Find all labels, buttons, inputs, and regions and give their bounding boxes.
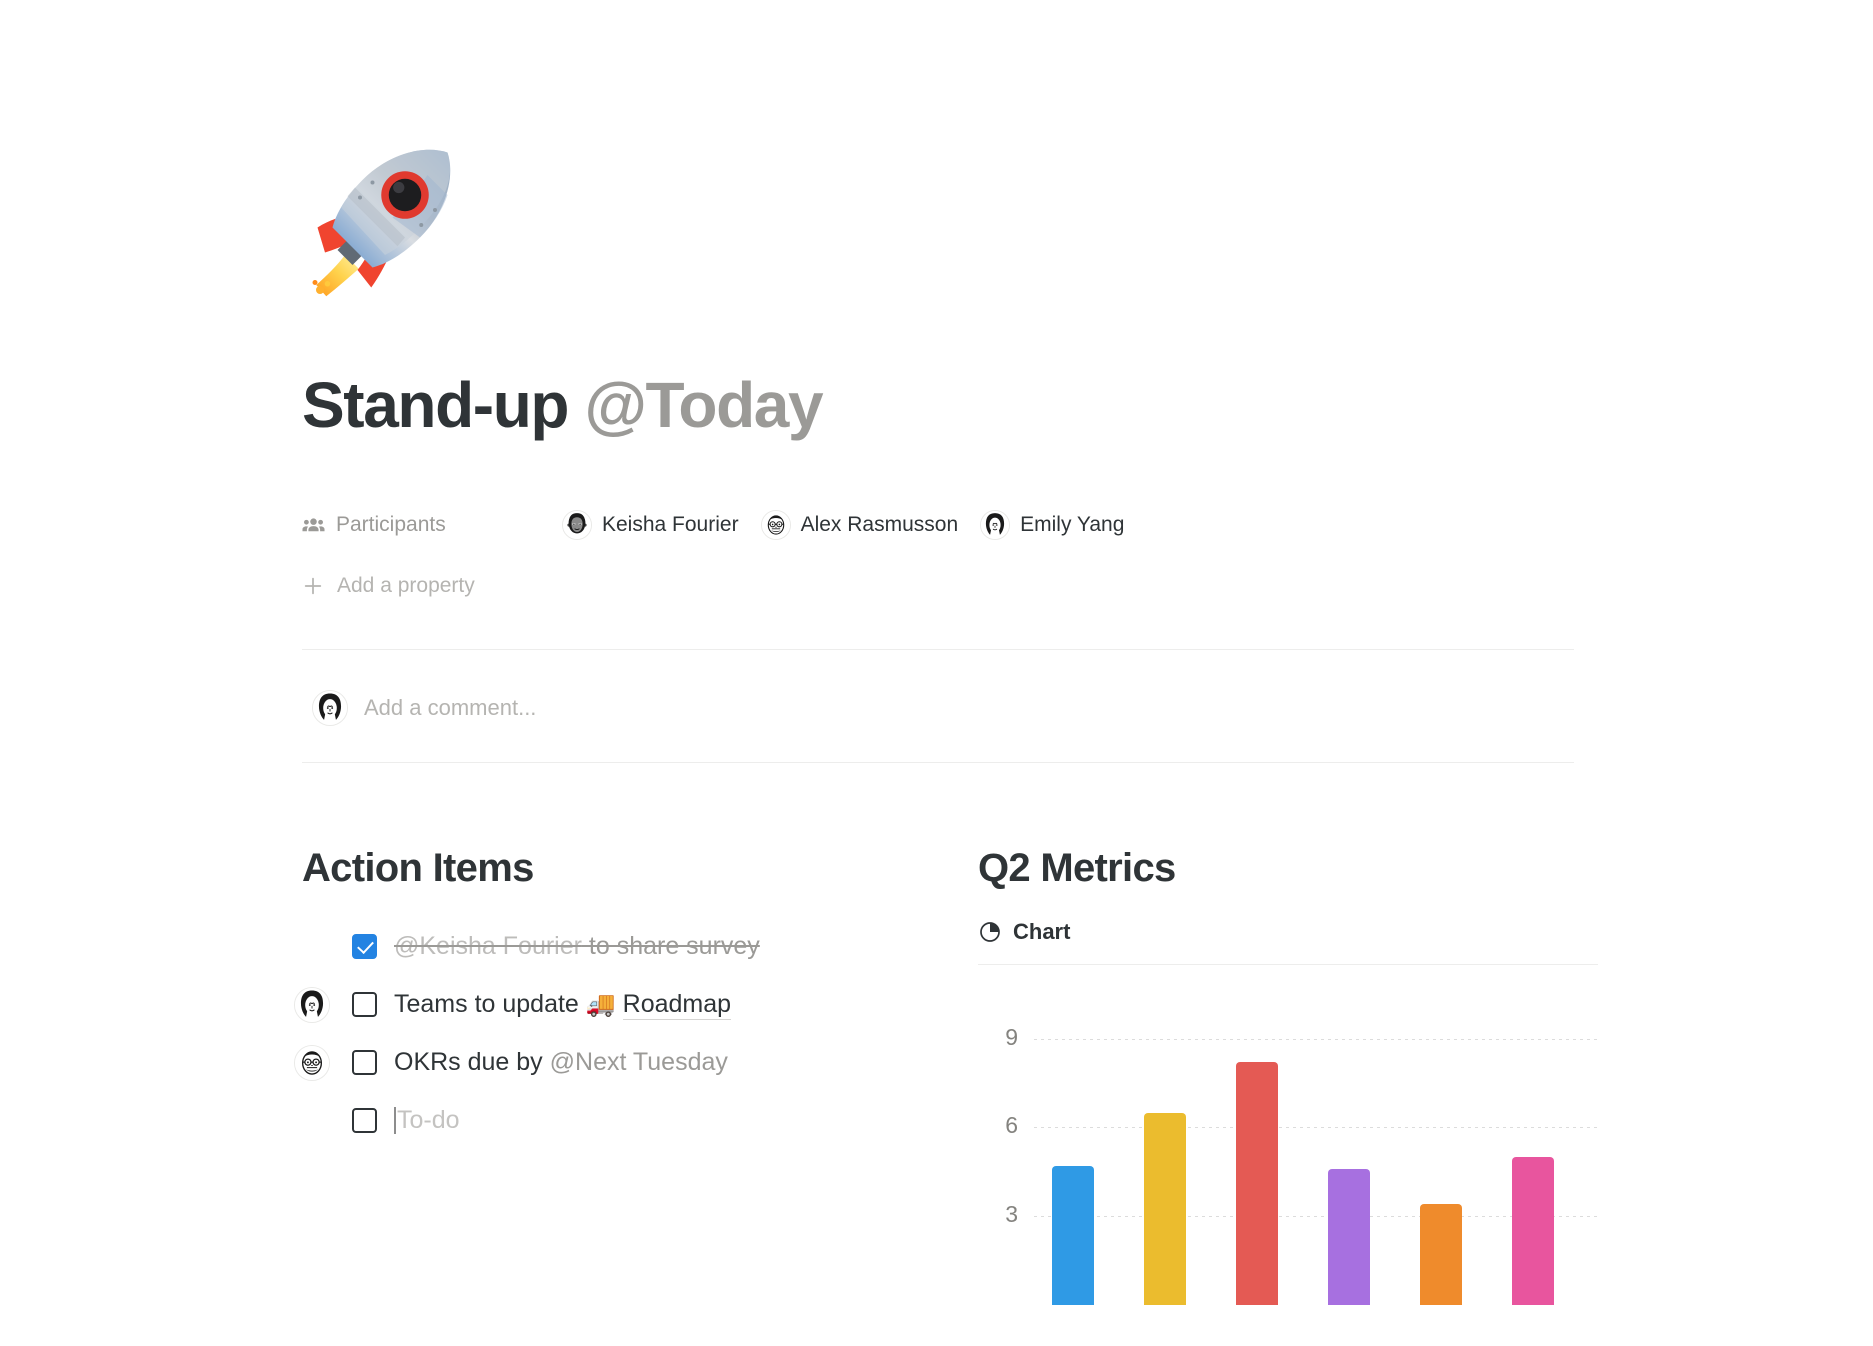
- todo-text-body: OKRs due by: [394, 1048, 550, 1076]
- chart-y-tick: 9: [978, 1024, 1018, 1051]
- comment-input[interactable]: Add a comment...: [364, 695, 536, 721]
- participant-name: Emily Yang: [1020, 513, 1124, 537]
- action-items-heading[interactable]: Action Items: [302, 845, 902, 891]
- todo-item-new[interactable]: To-do: [302, 1091, 902, 1149]
- todo-item[interactable]: @Keisha Fourier to share survey: [302, 917, 902, 975]
- todo-label[interactable]: @Keisha Fourier to share survey: [394, 932, 760, 961]
- truck-emoji: 🚚: [586, 991, 616, 1018]
- todo-page-link[interactable]: Roadmap: [623, 990, 731, 1020]
- todo-date-mention[interactable]: @Next Tuesday: [550, 1048, 728, 1076]
- rocket-emoji[interactable]: [300, 140, 460, 300]
- todo-label[interactable]: OKRs due by @Next Tuesday: [394, 1048, 728, 1077]
- add-property-button[interactable]: Add a property: [302, 574, 475, 598]
- chart-bar[interactable]: [1420, 1204, 1462, 1305]
- plus-icon: [302, 575, 324, 597]
- property-label-text: Participants: [336, 513, 446, 537]
- participant-chip[interactable]: Keisha Fourier: [562, 510, 739, 540]
- todo-checkbox[interactable]: [352, 992, 377, 1017]
- todo-checkbox[interactable]: [352, 1108, 377, 1133]
- todo-text-body: Teams to update: [394, 990, 586, 1018]
- people-icon: [302, 514, 325, 537]
- tab-chart-label: Chart: [1013, 919, 1070, 945]
- participant-name: Alex Rasmusson: [801, 513, 959, 537]
- metrics-section: Q2 Metrics Chart 369: [978, 845, 1598, 1305]
- todo-new-input[interactable]: To-do: [394, 1106, 460, 1135]
- avatar-alex: [761, 510, 791, 540]
- chart-bar[interactable]: [1328, 1169, 1370, 1305]
- participant-chip[interactable]: Emily Yang: [980, 510, 1124, 540]
- divider-above-comment: [302, 649, 1574, 650]
- note-page: Stand-up @Today Participants: [0, 0, 1873, 1346]
- todo-item[interactable]: OKRs due by @Next Tuesday: [302, 1033, 902, 1091]
- pie-chart-icon: [978, 920, 1002, 944]
- todo-checkbox[interactable]: [352, 934, 377, 959]
- todo-checkbox[interactable]: [352, 1050, 377, 1075]
- metrics-heading[interactable]: Q2 Metrics: [978, 845, 1598, 891]
- page-title[interactable]: Stand-up @Today: [302, 372, 822, 439]
- add-property-label: Add a property: [337, 574, 475, 598]
- participant-chip[interactable]: Alex Rasmusson: [761, 510, 959, 540]
- avatar-emily: [312, 690, 348, 726]
- participants-value[interactable]: Keisha Fourier: [562, 510, 1124, 540]
- text-caret: [394, 1107, 396, 1134]
- bar-chart[interactable]: 369: [978, 1009, 1598, 1305]
- chart-bar[interactable]: [1512, 1157, 1554, 1305]
- property-row-participants: Participants: [302, 508, 1124, 542]
- avatar-keisha: [562, 510, 592, 540]
- divider-below-comment: [302, 762, 1574, 763]
- avatar-alex: [294, 1045, 330, 1081]
- chart-bar[interactable]: [1144, 1113, 1186, 1305]
- action-items-section: Action Items @Keisha Fourier to share su…: [302, 845, 902, 1149]
- chart-divider: [978, 964, 1598, 965]
- participant-name: Keisha Fourier: [602, 513, 739, 537]
- avatar-emily: [294, 987, 330, 1023]
- chart-bar[interactable]: [1236, 1062, 1278, 1305]
- chart-y-tick: 3: [978, 1201, 1018, 1228]
- todo-text-body: to share survey: [582, 932, 760, 960]
- todo-label[interactable]: Teams to update 🚚 Roadmap: [394, 990, 731, 1019]
- todo-placeholder-label: To-do: [397, 1106, 460, 1134]
- property-label-participants[interactable]: Participants: [302, 513, 562, 537]
- chart-y-tick: 6: [978, 1112, 1018, 1139]
- page-title-main: Stand-up: [302, 369, 584, 441]
- add-comment-row[interactable]: Add a comment...: [312, 690, 536, 726]
- todo-list: @Keisha Fourier to share survey: [302, 917, 902, 1149]
- page-title-mention[interactable]: @Today: [584, 369, 822, 441]
- todo-mention[interactable]: @Keisha Fourier: [394, 932, 582, 960]
- avatar-emily: [980, 510, 1010, 540]
- todo-item[interactable]: Teams to update 🚚 Roadmap: [302, 975, 902, 1033]
- chart-bars: [1034, 1009, 1598, 1305]
- chart-bar[interactable]: [1052, 1166, 1094, 1305]
- tab-chart[interactable]: Chart: [978, 919, 1598, 945]
